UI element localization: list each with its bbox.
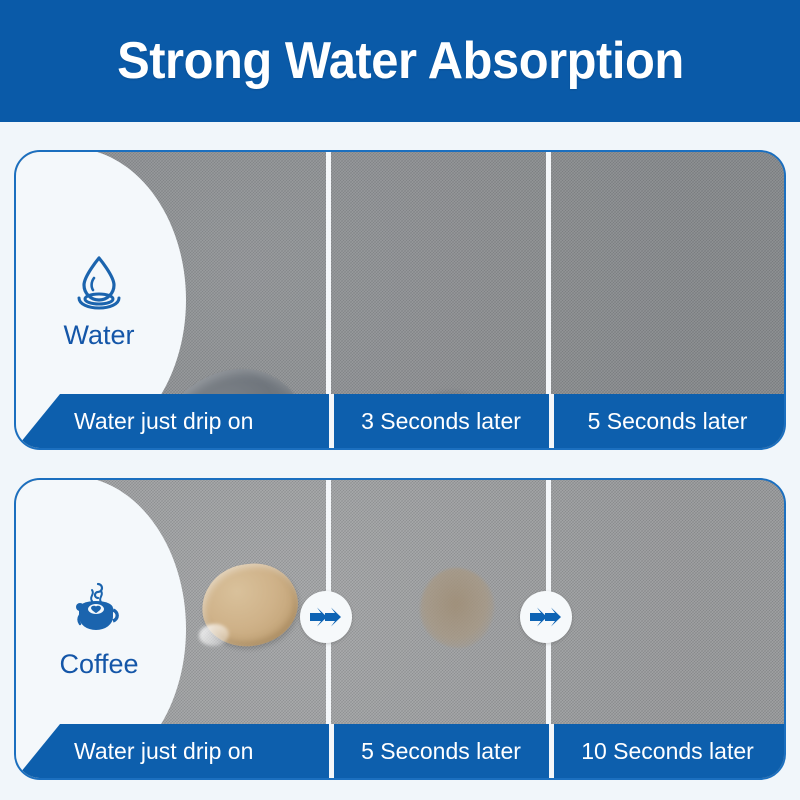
caption-bar-coffee: Water just drip on 5 Seconds later 10 Se… bbox=[16, 724, 784, 778]
arrow-badge-coffee-1 bbox=[300, 591, 352, 643]
double-chevron-right-icon bbox=[529, 606, 563, 628]
caption-cell-water-3: 5 Seconds later bbox=[551, 394, 784, 448]
caption-label-water-3: 5 Seconds later bbox=[588, 408, 748, 435]
caption-cell-coffee-1: Water just drip on bbox=[16, 724, 331, 778]
caption-bar-water: Water just drip on 3 Seconds later 5 Sec… bbox=[16, 394, 784, 448]
caption-cell-water-1: Water just drip on bbox=[16, 394, 331, 448]
side-tab-label-water: Water bbox=[63, 320, 134, 351]
caption-label-coffee-1: Water just drip on bbox=[74, 738, 253, 765]
page-title: Strong Water Absorption bbox=[117, 31, 684, 91]
caption-label-coffee-3: 10 Seconds later bbox=[581, 738, 754, 765]
coffee-cup-icon bbox=[67, 579, 131, 641]
caption-wedge-water bbox=[16, 394, 78, 448]
caption-cell-coffee-3: 10 Seconds later bbox=[551, 724, 784, 778]
arrow-badge-coffee-2 bbox=[520, 591, 572, 643]
caption-label-coffee-2: 5 Seconds later bbox=[361, 738, 521, 765]
double-chevron-right-icon bbox=[309, 606, 343, 628]
header-banner: Strong Water Absorption bbox=[0, 0, 800, 122]
side-tab-label-coffee: Coffee bbox=[59, 649, 138, 680]
caption-label-water-2: 3 Seconds later bbox=[361, 408, 521, 435]
caption-wedge-coffee bbox=[16, 724, 78, 778]
demo-panel-water: Water Water just drip on 3 Seconds later bbox=[14, 150, 786, 450]
caption-cell-coffee-2: 5 Seconds later bbox=[331, 724, 551, 778]
caption-label-water-1: Water just drip on bbox=[74, 408, 253, 435]
water-drop-icon bbox=[67, 250, 131, 312]
caption-cell-water-2: 3 Seconds later bbox=[331, 394, 551, 448]
demo-panel-coffee: Coffee Water just drip on 5 Seconds late… bbox=[14, 478, 786, 780]
